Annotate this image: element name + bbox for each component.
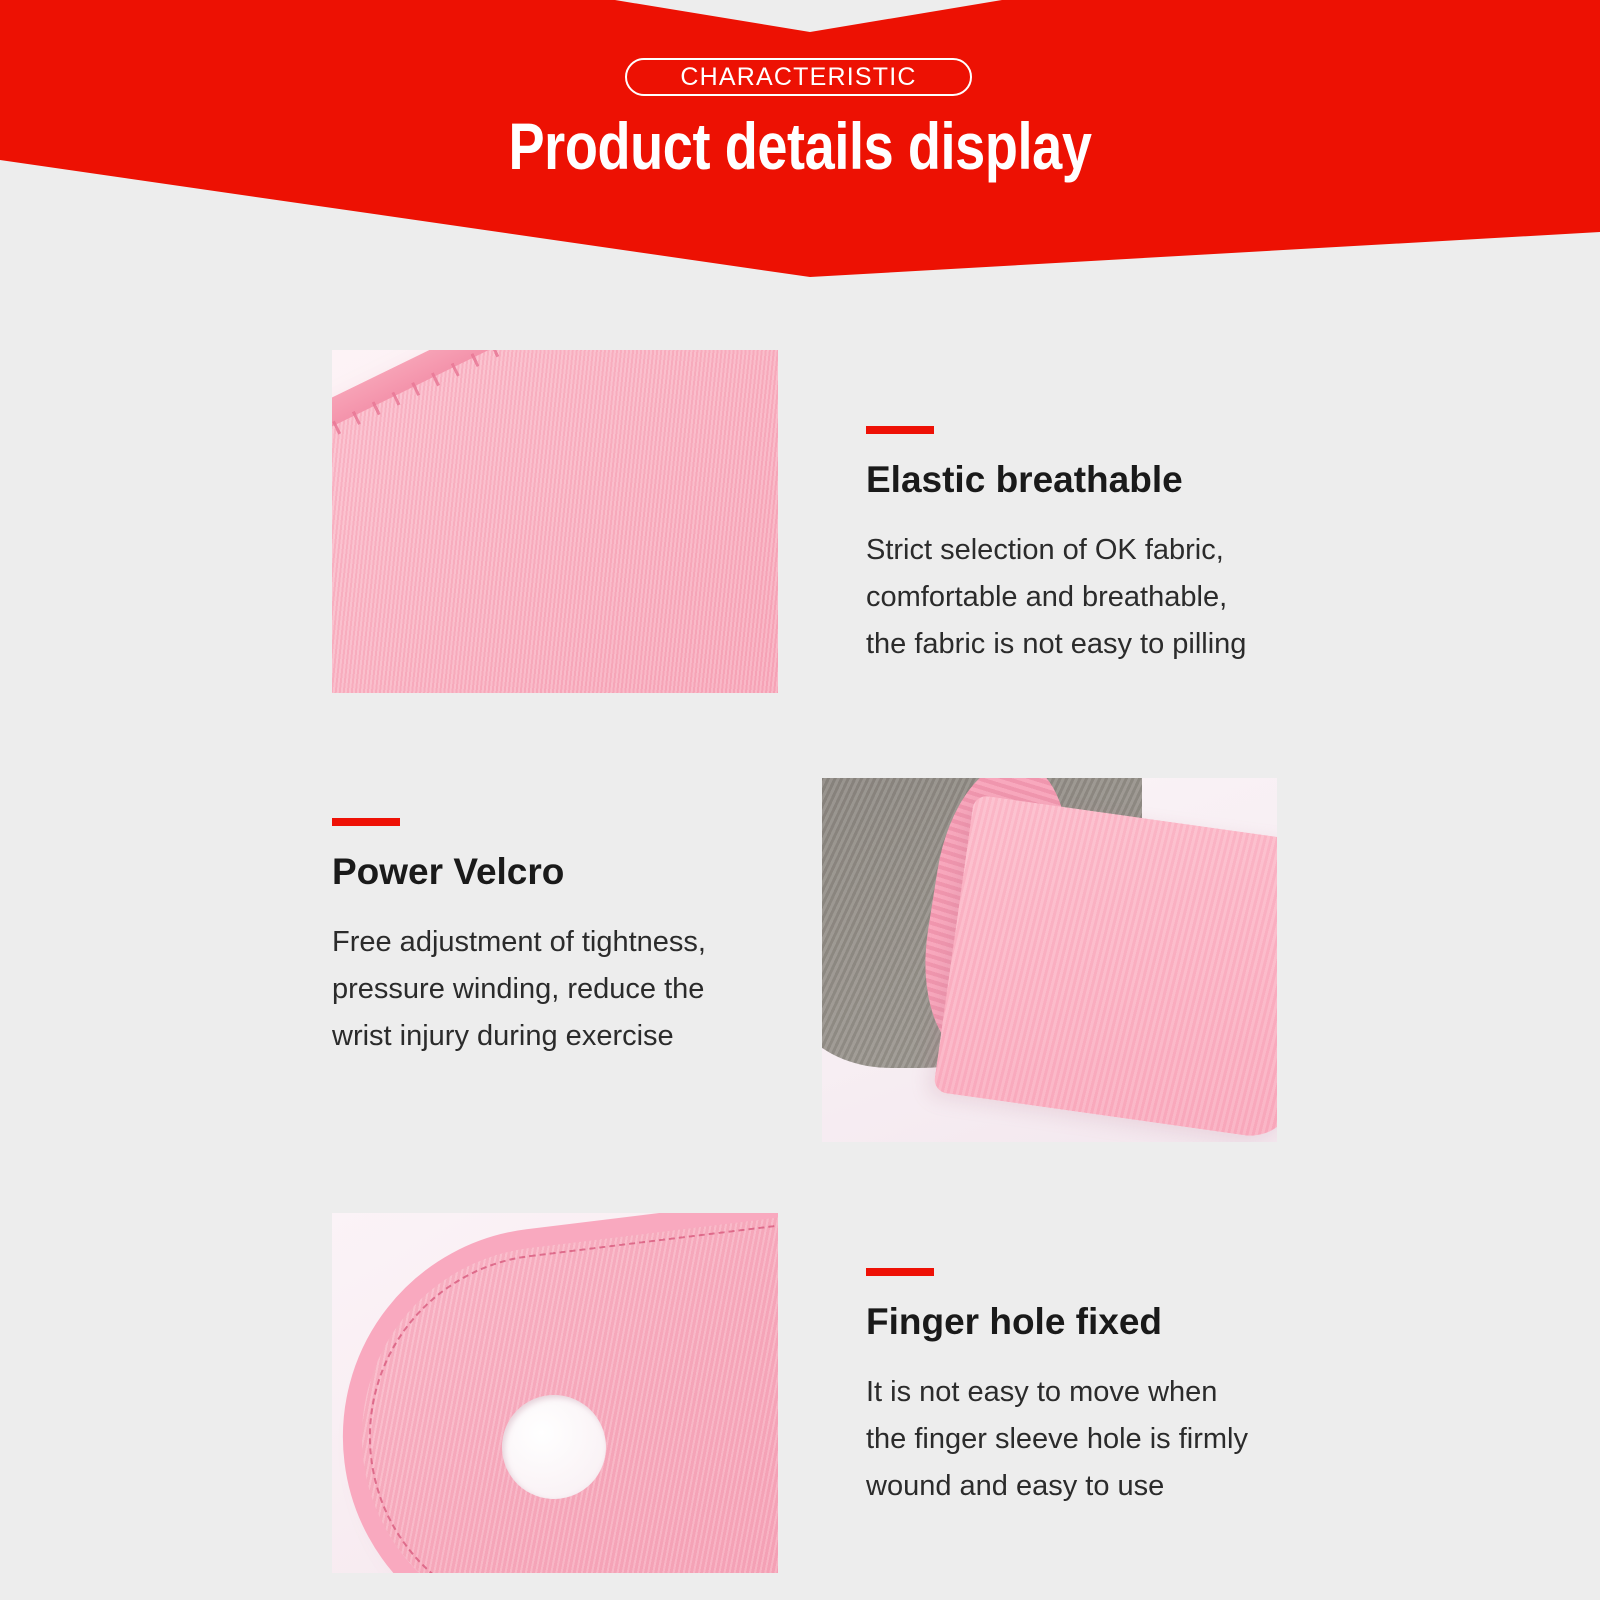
feature-description-line: the fabric is not easy to pilling: [866, 621, 1336, 668]
feature-text-power-velcro: Power Velcro Free adjustment of tightnes…: [332, 818, 802, 1060]
feature-image-power-velcro: [822, 778, 1277, 1142]
feature-title: Finger hole fixed: [866, 1302, 1336, 1343]
banner-content: CHARACTERISTIC Product details display: [0, 0, 1600, 290]
feature-description-line: It is not easy to move when: [866, 1369, 1336, 1416]
feature-image-elastic-breathable: [332, 350, 778, 693]
characteristic-badge: CHARACTERISTIC: [625, 58, 972, 96]
feature-title: Power Velcro: [332, 852, 802, 893]
feature-description: Strict selection of OK fabric, comfortab…: [866, 527, 1336, 668]
red-accent-bar: [866, 426, 934, 434]
photo1-bottom-stitching: [349, 595, 778, 693]
feature-description-line: the finger sleeve hole is firmly: [866, 1416, 1336, 1463]
page-header-banner: CHARACTERISTIC Product details display: [0, 0, 1600, 290]
photo1-pink-strap: [332, 350, 778, 693]
feature-description-line: wound and easy to use: [866, 1463, 1336, 1510]
photo1-strap-top-edge: [332, 350, 778, 516]
feature-image-finger-hole-fixed: [332, 1213, 778, 1573]
feature-description-line: Free adjustment of tightness,: [332, 919, 802, 966]
red-accent-bar: [332, 818, 400, 826]
photo2-pink-velcro-flap: [933, 794, 1277, 1141]
feature-description-line: wrist injury during exercise: [332, 1013, 802, 1060]
feature-title: Elastic breathable: [866, 460, 1336, 501]
feature-text-elastic-breathable: Elastic breathable Strict selection of O…: [866, 426, 1336, 668]
red-accent-bar: [866, 1268, 934, 1276]
feature-description-line: pressure winding, reduce the: [332, 966, 802, 1013]
feature-description: Free adjustment of tightness, pressure w…: [332, 919, 802, 1060]
feature-description: It is not easy to move when the finger s…: [866, 1369, 1336, 1510]
feature-description-line: comfortable and breathable,: [866, 574, 1336, 621]
feature-description-line: Strict selection of OK fabric,: [866, 527, 1336, 574]
page-title: Product details display: [144, 108, 1456, 184]
feature-text-finger-hole-fixed: Finger hole fixed It is not easy to move…: [866, 1268, 1336, 1510]
photo1-strap-bottom-edge: [353, 604, 778, 693]
